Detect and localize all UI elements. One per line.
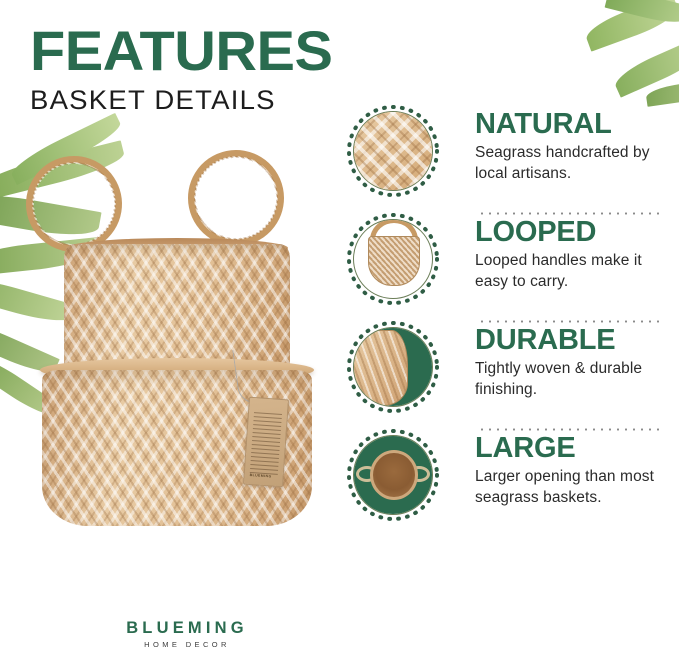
looped-handle-basket-icon [345,211,441,307]
icon-image [353,219,433,299]
feature-title: LOOPED [475,217,665,247]
hang-tag-logo: BLUEMING [250,473,272,479]
feature-description: Tightly woven & durable finishing. [475,359,665,401]
leaf-decoration-top-right [566,0,679,110]
feature-text: LARGE Larger opening than most seagrass … [475,427,665,509]
page-subtitle: BASKET DETAILS [30,85,330,116]
brand-tagline: HOME DECOR [112,641,262,649]
feature-text: NATURAL Seagrass handcrafted by local ar… [475,103,665,185]
basket-handle-right [180,142,291,253]
woven-basket-silhouette-icon [345,319,441,415]
feature-row: LOOPED Looped handles make it easy to ca… [345,211,675,319]
product-photo: BLUEMING [0,140,352,540]
feature-title: LARGE [475,433,665,463]
infographic-page: FEATURES BASKET DETAILS [0,0,679,650]
feature-row: LARGE Larger opening than most seagrass … [345,427,675,535]
brand-name: BLUEMING [112,620,262,637]
basket-silhouette [353,330,408,406]
feature-text: LOOPED Looped handles make it easy to ca… [475,211,665,293]
feature-title: NATURAL [475,109,665,139]
icon-image [353,435,433,515]
page-title: FEATURES [30,24,332,79]
feature-list: NATURAL Seagrass handcrafted by local ar… [345,103,675,535]
feature-description: Larger opening than most seagrass basket… [475,467,665,509]
feature-text: DURABLE Tightly woven & durable finishin… [475,319,665,401]
icon-image [353,327,433,407]
basket-top-view-icon [345,427,441,523]
basket-body [368,236,420,286]
feature-title: DURABLE [475,325,665,355]
hang-tag: BLUEMING [243,397,289,488]
feature-description: Seagrass handcrafted by local artisans. [475,143,665,185]
feature-row: DURABLE Tightly woven & durable finishin… [345,319,675,427]
hang-tag-text-lines [250,412,282,475]
basket-opening [370,450,418,500]
feature-row: NATURAL Seagrass handcrafted by local ar… [345,103,675,211]
brand-logo: BLUEMING HOME DECOR [112,620,262,648]
woven-texture-icon [345,103,441,199]
basket-illustration: BLUEMING [38,208,316,528]
feature-description: Looped handles make it easy to carry. [475,251,665,293]
header: FEATURES BASKET DETAILS [30,24,324,116]
icon-image [353,111,433,191]
